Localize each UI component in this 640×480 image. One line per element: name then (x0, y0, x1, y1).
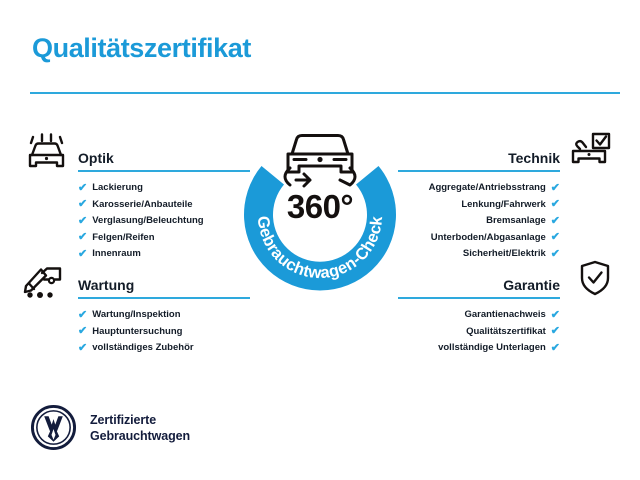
check-icon: ✔ (78, 183, 87, 194)
check-icon: ✔ (551, 249, 560, 260)
list-item: ✔ vollständiges Zubehör (78, 340, 250, 357)
list-item-label: vollständiges Zubehör (92, 340, 193, 357)
list-item: Bremsanlage ✔ (398, 213, 560, 230)
list-item: Aggregate/Antriebsstrang ✔ (398, 180, 560, 197)
list-item: ✔ Wartung/Inspektion (78, 307, 250, 324)
check-icon: ✔ (78, 199, 87, 210)
badge-center-label: 360° (228, 188, 412, 226)
list-item: Lenkung/Fahrwerk ✔ (398, 197, 560, 214)
check-icon: ✔ (78, 232, 87, 243)
section-wartung-divider (78, 297, 250, 299)
footer-brand: Zertifizierte Gebrauchtwagen (30, 404, 190, 451)
list-item-label: Lackierung (92, 180, 143, 197)
list-item-label: Innenraum (92, 246, 141, 263)
check-icon: ✔ (551, 343, 560, 354)
section-wartung-title: Wartung (78, 277, 134, 293)
list-item: ✔ Felgen/Reifen (78, 230, 250, 247)
section-wartung-header: Wartung (78, 267, 250, 297)
section-garantie-title: Garantie (503, 277, 560, 293)
section-wartung: Wartung ✔ Wartung/Inspektion ✔ Hauptunte… (78, 267, 250, 373)
check-icon: ✔ (78, 326, 87, 337)
check-icon: ✔ (551, 310, 560, 321)
list-item-label: Garantienachweis (464, 307, 545, 324)
section-technik-title: Technik (508, 150, 560, 166)
brand-text-line1: Zertifizierte (90, 412, 190, 428)
list-item: Sicherheit/Elektrik ✔ (398, 246, 560, 263)
list-item: ✔ Innenraum (78, 246, 250, 263)
section-optik-list: ✔ Lackierung ✔ Karosserie/Anbauteile ✔ V… (78, 180, 250, 263)
section-garantie: Garantie Garantienachweis ✔ Qualitätszer… (398, 267, 560, 373)
section-technik-header: Technik (398, 140, 560, 170)
list-item-label: Hauptuntersuchung (92, 324, 182, 341)
service-checklist-icon (20, 259, 66, 299)
list-item: ✔ Hauptuntersuchung (78, 324, 250, 341)
section-optik-title: Optik (78, 150, 114, 166)
check-icon: ✔ (78, 310, 87, 321)
brand-text-line2: Gebrauchtwagen (90, 428, 190, 444)
list-item: ✔ Lackierung (78, 180, 250, 197)
check-icon: ✔ (551, 199, 560, 210)
quality-certificate: Qualitätszertifikat Optik ✔ Lackie (0, 0, 640, 480)
gebrauchtwagen-check-badge: Gebrauchtwagen-Check 360° (228, 118, 412, 302)
check-icon: ✔ (551, 216, 560, 227)
list-item: Qualitätszertifikat ✔ (398, 324, 560, 341)
list-item-label: vollständige Unterlagen (438, 340, 546, 357)
section-optik-header: Optik (78, 140, 250, 170)
list-item-label: Qualitätszertifikat (466, 324, 546, 341)
list-item: Garantienachweis ✔ (398, 307, 560, 324)
section-technik-divider (398, 170, 560, 172)
shield-check-icon (572, 259, 618, 299)
list-item-label: Felgen/Reifen (92, 230, 154, 247)
check-icon: ✔ (78, 216, 87, 227)
section-wartung-list: ✔ Wartung/Inspektion ✔ Hauptuntersuchung… (78, 307, 250, 357)
list-item-label: Unterboden/Abgasanlage (431, 230, 546, 247)
list-item-label: Wartung/Inspektion (92, 307, 180, 324)
volkswagen-logo (30, 404, 77, 451)
check-icon: ✔ (78, 249, 87, 260)
check-icon: ✔ (551, 326, 560, 337)
section-technik-list: Aggregate/Antriebsstrang ✔ Lenkung/Fahrw… (398, 180, 560, 263)
list-item: Unterboden/Abgasanlage ✔ (398, 230, 560, 247)
section-garantie-header: Garantie (398, 267, 560, 297)
brand-text: Zertifizierte Gebrauchtwagen (90, 412, 190, 444)
list-item-label: Verglasung/Beleuchtung (92, 213, 203, 230)
list-item: ✔ Karosserie/Anbauteile (78, 197, 250, 214)
check-icon: ✔ (78, 343, 87, 354)
check-icon: ✔ (551, 232, 560, 243)
title-divider (30, 92, 620, 94)
car-rotation-icon (288, 136, 352, 173)
section-optik: Optik ✔ Lackierung ✔ Karosserie/Anbautei… (78, 140, 250, 279)
list-item-label: Sicherheit/Elektrik (463, 246, 546, 263)
section-garantie-divider (398, 297, 560, 299)
list-item-label: Lenkung/Fahrwerk (461, 197, 545, 214)
list-item: ✔ Verglasung/Beleuchtung (78, 213, 250, 230)
list-item-label: Bremsanlage (486, 213, 546, 230)
section-technik: Technik Aggregate/Antriebsstrang ✔ Lenku… (398, 140, 560, 279)
list-item: vollständige Unterlagen ✔ (398, 340, 560, 357)
list-item-label: Karosserie/Anbauteile (92, 197, 192, 214)
car-checkbox-icon (567, 131, 613, 171)
check-icon: ✔ (551, 183, 560, 194)
list-item-label: Aggregate/Antriebsstrang (429, 180, 546, 197)
shiny-car-icon (22, 133, 68, 173)
page-title: Qualitätszertifikat (32, 33, 251, 64)
section-garantie-list: Garantienachweis ✔ Qualitätszertifikat ✔… (398, 307, 560, 357)
section-optik-divider (78, 170, 250, 172)
